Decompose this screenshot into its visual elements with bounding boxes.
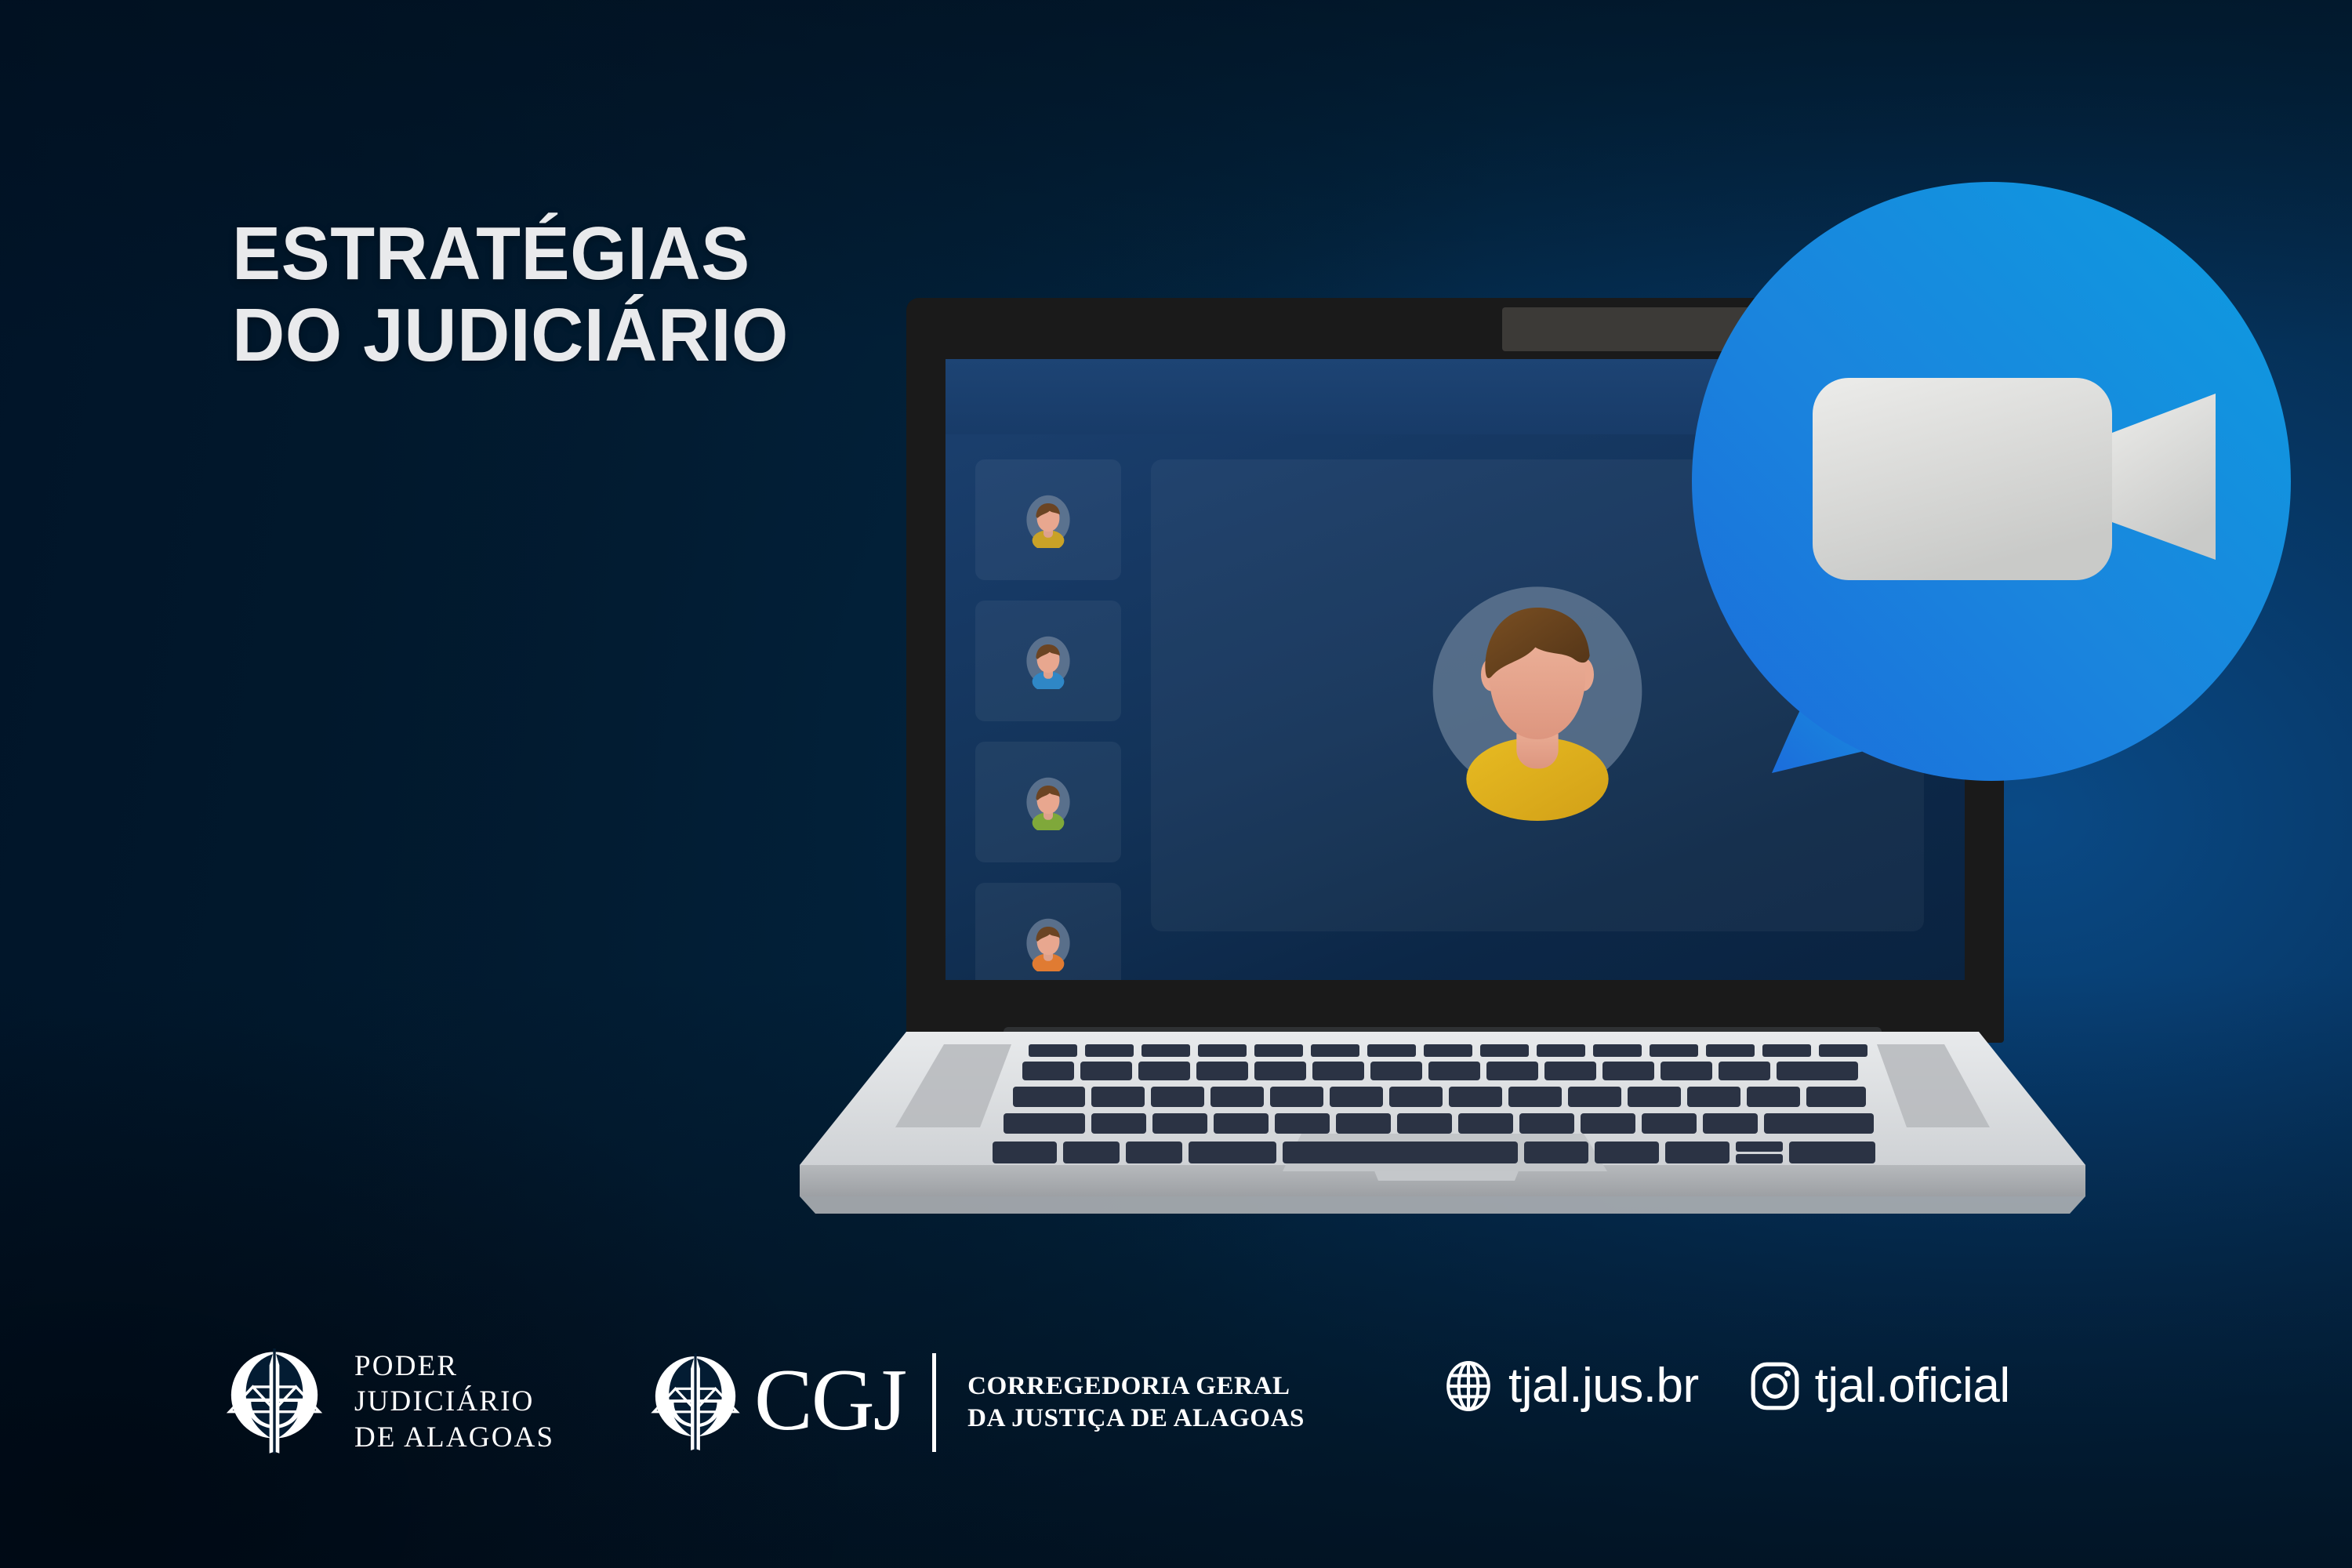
tribunal-line-2: JUDICIÁRIO [354,1384,554,1419]
footer: PODER JUDICIÁRIO DE ALAGOAS CGJ [0,1347,2352,1496]
corregedoria-acronym: CGJ [754,1356,906,1444]
video-call-bubble[interactable] [1639,154,2344,859]
logo-divider [932,1353,936,1452]
instagram-link[interactable]: tjal.oficial [1749,1358,2010,1414]
page-title: ESTRATÉGIAS DO JUDICIÁRIO [232,213,789,376]
avatar [1020,774,1076,830]
participant-thumbnail[interactable] [975,601,1121,721]
participant-thumbnail[interactable] [975,742,1121,862]
tribunal-logo-text: PODER JUDICIÁRIO DE ALAGOAS [354,1348,554,1454]
participant-thumbnail[interactable] [975,883,1121,980]
title-line-1: ESTRATÉGIAS [232,213,789,295]
corregedoria-logo[interactable]: CGJ CORREGEDORIA GERAL DA JUSTIÇA DE ALA… [649,1352,1305,1454]
participant-thumbnail[interactable] [975,459,1121,580]
website-label: tjal.jus.br [1508,1358,1699,1414]
avatar [1020,915,1076,971]
scales-of-justice-emblem [224,1347,325,1457]
corregedoria-line-1: CORREGEDORIA GERAL [967,1370,1305,1403]
globe-icon [1443,1360,1494,1412]
tribunal-line-1: PODER [354,1348,554,1384]
title-line-2: DO JUDICIÁRIO [232,295,789,376]
poster-canvas: ESTRATÉGIAS DO JUDICIÁRIO [0,0,2352,1568]
avatar [1020,492,1076,548]
corregedoria-logo-text: CORREGEDORIA GERAL DA JUSTIÇA DE ALAGOAS [967,1370,1305,1435]
tribunal-line-3: DE ALAGOAS [354,1420,554,1455]
participant-thumbnail-list [975,459,1121,980]
scales-of-justice-emblem [649,1352,742,1454]
instagram-icon [1749,1360,1801,1412]
avatar [1412,570,1663,821]
avatar [1020,633,1076,689]
corregedoria-line-2: DA JUSTIÇA DE ALAGOAS [967,1403,1305,1435]
active-speaker-avatar [1412,570,1663,821]
instagram-label: tjal.oficial [1815,1358,2010,1414]
contact-links: tjal.jus.br tjal.oficial [1443,1358,2010,1414]
laptop-base [753,1027,2132,1232]
tribunal-logo[interactable]: PODER JUDICIÁRIO DE ALAGOAS [224,1347,554,1457]
website-link[interactable]: tjal.jus.br [1443,1358,1699,1414]
